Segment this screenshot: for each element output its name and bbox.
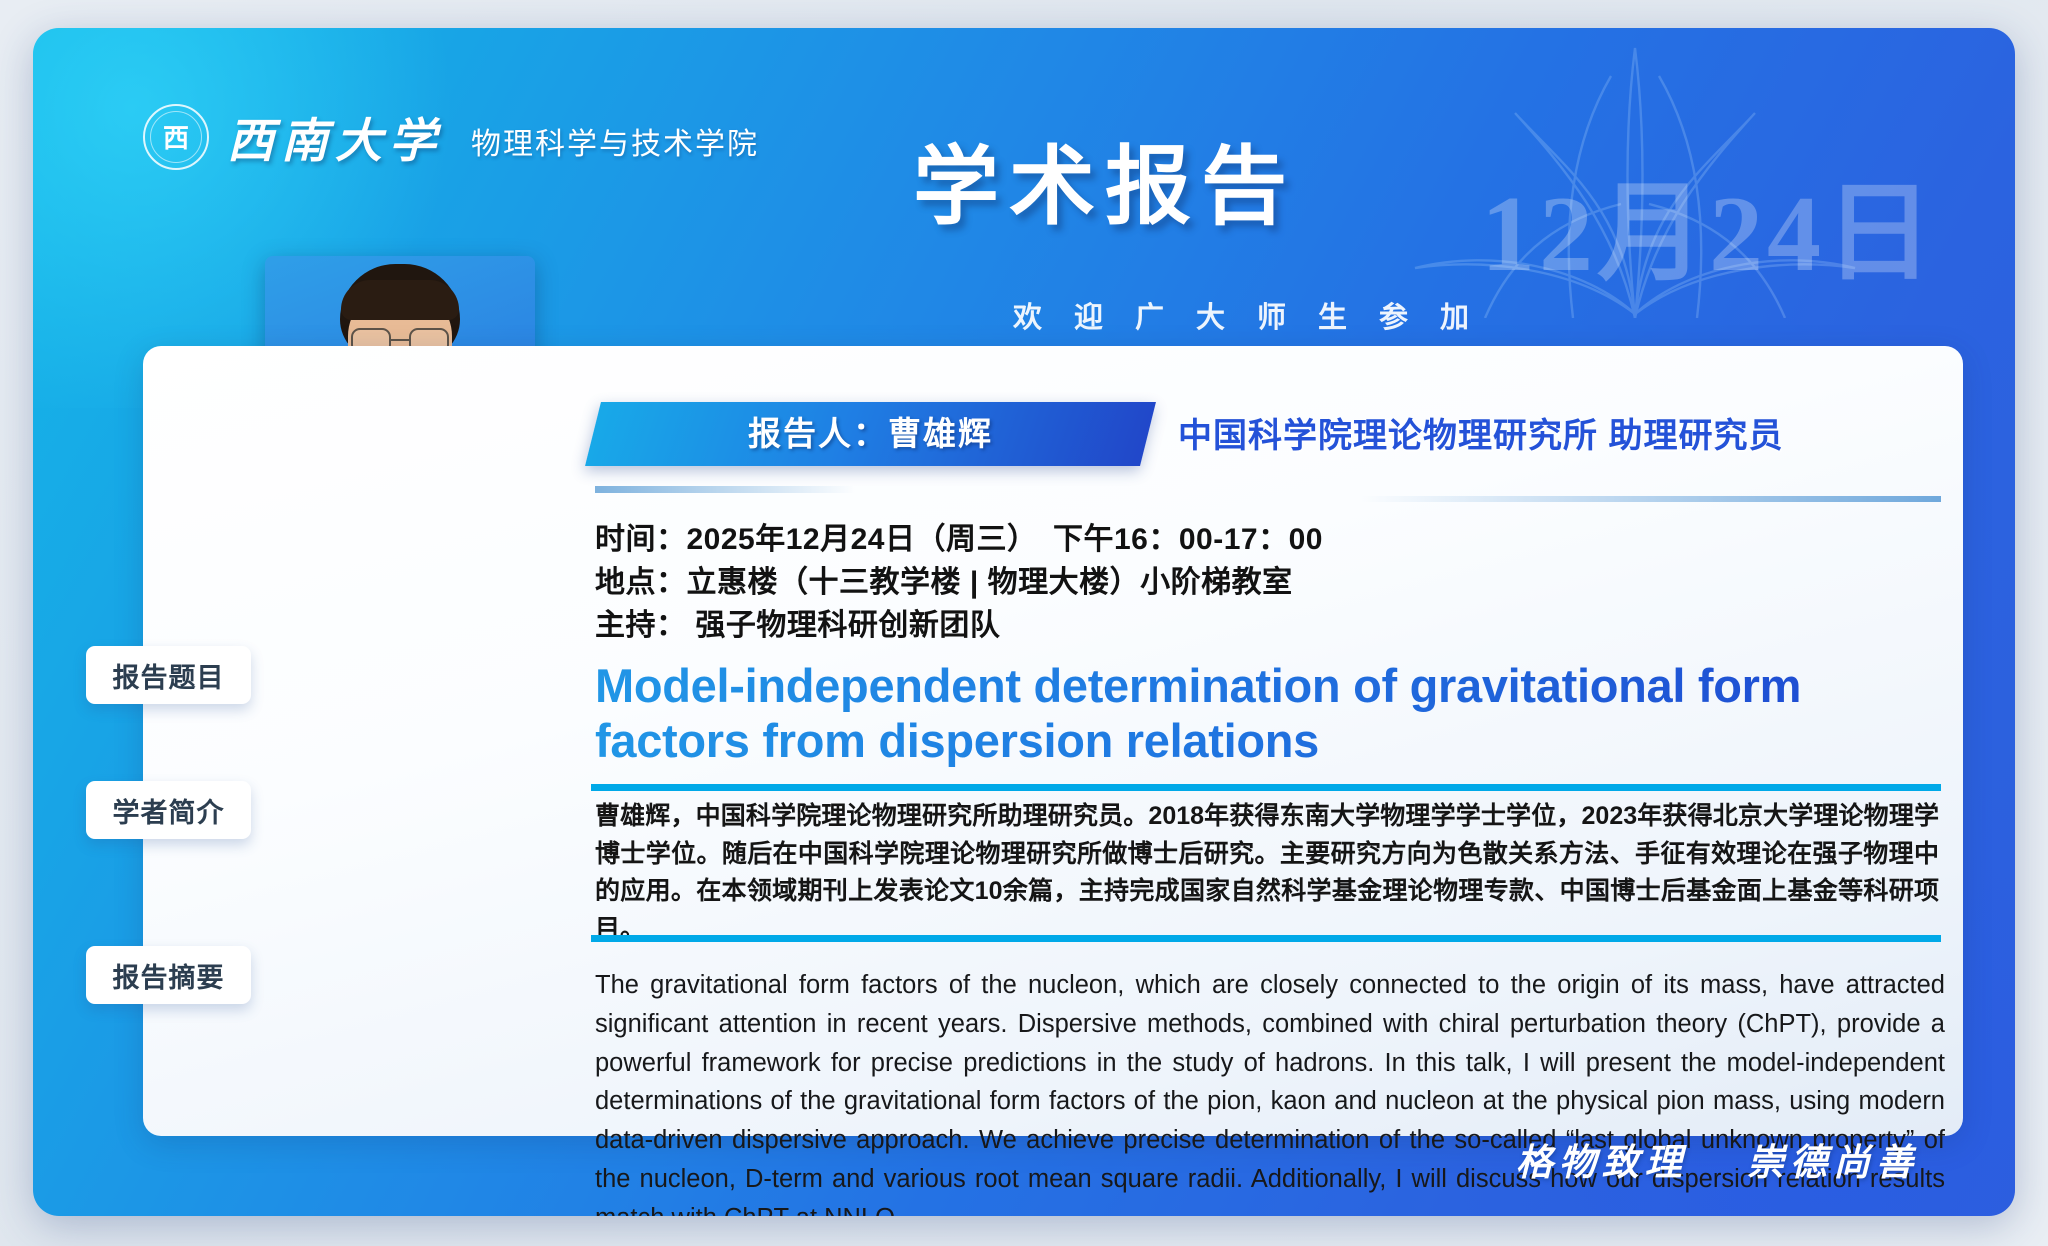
photo-fringe	[341, 280, 459, 320]
motto-left: 格物致理	[1516, 1143, 1688, 1184]
poster-root: 西 西南大学 物理科学与技术学院 学术报告 12月24日 欢迎广大师生参加 报告…	[33, 28, 2015, 1216]
speaker-affiliation: 中国科学院理论物理研究所 助理研究员	[1178, 408, 1783, 457]
welcome-line: 欢迎广大师生参加	[1013, 294, 1501, 336]
section-tag-title: 报告题目	[86, 646, 251, 704]
brand-lockup: 西 西南大学 物理科学与技术学院	[143, 102, 759, 171]
motto-right: 崇德尚善	[1747, 1143, 1919, 1184]
content-card: 报告人：曹雄辉 中国科学院理论物理研究所 助理研究员 时间：2025年12月24…	[143, 346, 1963, 1136]
university-name: 西南大学	[227, 102, 443, 171]
divider-right	[1361, 496, 1941, 502]
section-tag-abstract: 报告摘要	[86, 946, 251, 1004]
page-title: 学术报告	[913, 116, 1297, 241]
date-watermark: 12月24日	[1481, 146, 1937, 302]
section-tag-bio: 学者简介	[86, 781, 251, 839]
college-name: 物理科学与技术学院	[471, 119, 759, 163]
divider-left	[595, 486, 855, 493]
footer-motto: 格物致理 崇德尚善	[1516, 1132, 1919, 1186]
meta-place: 地点：立惠楼（十三教学楼 | 物理大楼）小阶梯教室	[595, 561, 1323, 604]
speaker-bio: 曹雄辉，中国科学院理论物理研究所助理研究员。2018年获得东南大学物理学学士学位…	[595, 798, 1939, 948]
university-seal-icon: 西	[143, 104, 209, 170]
event-meta: 时间：2025年12月24日（周三） 下午16：00-17：00 地点：立惠楼（…	[595, 518, 1323, 648]
talk-title: Model-independent determination of gravi…	[595, 658, 1935, 769]
speaker-banner-label: 报告人：曹雄辉	[593, 402, 1148, 466]
meta-time: 时间：2025年12月24日（周三） 下午16：00-17：00	[595, 518, 1323, 561]
bio-divider-bottom	[591, 935, 1941, 942]
meta-host: 主持： 强子物理科研创新团队	[595, 604, 1323, 647]
seal-glyph: 西	[145, 106, 207, 168]
speaker-banner: 报告人：曹雄辉	[585, 402, 1156, 466]
bio-divider-top	[591, 784, 1941, 791]
